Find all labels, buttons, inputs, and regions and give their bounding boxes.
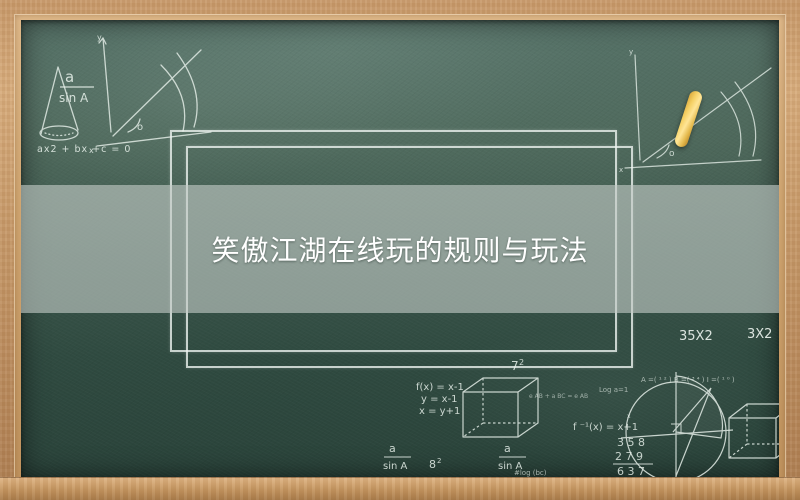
chalk-frac3-den: sin A xyxy=(498,461,523,472)
ledge-wood-grain xyxy=(0,477,800,500)
svg-text:y: y xyxy=(629,48,633,56)
chalk-log-bc: #log (bc) xyxy=(514,469,547,477)
chalk-fx-line2: y = x-1 xyxy=(421,394,458,405)
chalk-frac2-num: a xyxy=(389,442,396,455)
chalk-matrix-row: A =( ¹ ² ) B =( ³ ⁴ ) I =( ¹ ⁰ ) xyxy=(641,376,735,384)
chalk-eight-power: 2 xyxy=(437,457,441,465)
chalk-log-a: Log a=1 xyxy=(599,386,628,394)
chalk-angle-label: o xyxy=(137,122,143,133)
chalk-fraction-denominator: sin A xyxy=(59,91,89,105)
chalk-fx-line3: x = y+1 xyxy=(419,406,460,417)
chalk-label-3x2: 3X2 xyxy=(747,327,772,342)
svg-text:o: o xyxy=(669,149,675,159)
chalk-geometry-note: e AB + a BC = e AB xyxy=(529,393,588,400)
yellow-chalk-stick-icon xyxy=(673,89,703,148)
chalk-axis-x-label: x xyxy=(89,146,94,155)
chalk-eight: 8 xyxy=(429,458,436,471)
chalk-frac3-num: a xyxy=(504,442,511,455)
chalk-digits-2: 2 7 9 xyxy=(615,450,643,463)
chalk-tray-ledge xyxy=(0,477,800,500)
chalk-quadratic-equation: ax2 + bx +c = 0 xyxy=(37,144,131,155)
chalk-digits-1: 3 5 8 xyxy=(617,436,645,449)
chalk-fraction-numerator: a xyxy=(65,68,74,86)
chalk-label-35x2: 35X2 xyxy=(679,329,713,344)
chalk-fx-line1: f(x) = x-1 xyxy=(416,382,464,393)
chalk-x-small: x xyxy=(627,413,631,420)
chalk-inverse-function: f ⁻¹(x) = x+1 xyxy=(573,422,638,433)
chalk-frac2-den: sin A xyxy=(383,461,408,472)
chalk-digits-3: 6 3 7 xyxy=(617,465,645,477)
chalkboard-surface: a sin A y x o ax2 + bx +c = 0 xyxy=(21,20,779,477)
chalk-axis-y-label: y xyxy=(97,33,102,42)
chalkboard-banner: a sin A y x o ax2 + bx +c = 0 xyxy=(0,0,800,500)
page-title: 笑傲江湖在线玩的规则与玩法 xyxy=(21,185,779,313)
